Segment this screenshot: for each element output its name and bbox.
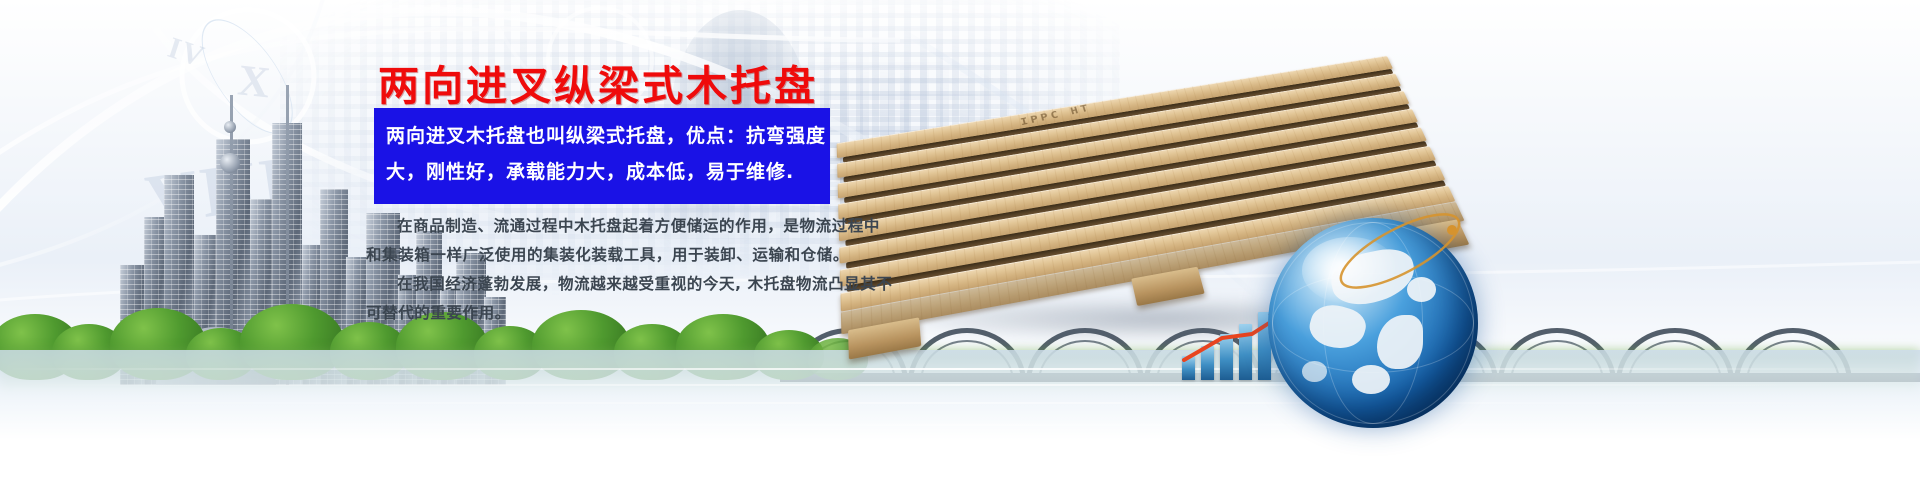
- description-line-4: 可替代的重要作用。: [366, 299, 836, 328]
- water-reflection: [0, 350, 1920, 500]
- description-block: 在商品制造、流通过程中木托盘起着方便储运的作用，是物流过程中 和集装箱一样广泛使…: [366, 212, 836, 328]
- description-line-2: 和集装箱一样广泛使用的集装化装载工具，用于装卸、运输和仓储。: [366, 241, 836, 270]
- highlight-box: 两向进叉木托盘也叫纵梁式托盘，优点：抗弯强度 大，刚性好，承载能力大，成本低，易…: [374, 108, 830, 204]
- highlight-line-1: 两向进叉木托盘也叫纵梁式托盘，优点：抗弯强度: [386, 118, 818, 154]
- description-line-1: 在商品制造、流通过程中木托盘起着方便储运的作用，是物流过程中: [366, 212, 836, 241]
- globe-orbit-icon: [1330, 206, 1470, 296]
- product-banner: VIII X VII IV: [0, 0, 1920, 500]
- description-line-3: 在我国经济蓬勃发展，物流越来越受重视的今天, 木托盘物流凸显其不: [366, 270, 836, 299]
- highlight-line-2: 大，刚性好，承载能力大，成本低，易于维修.: [386, 154, 818, 190]
- page-title: 两向进叉纵梁式木托盘: [378, 52, 818, 112]
